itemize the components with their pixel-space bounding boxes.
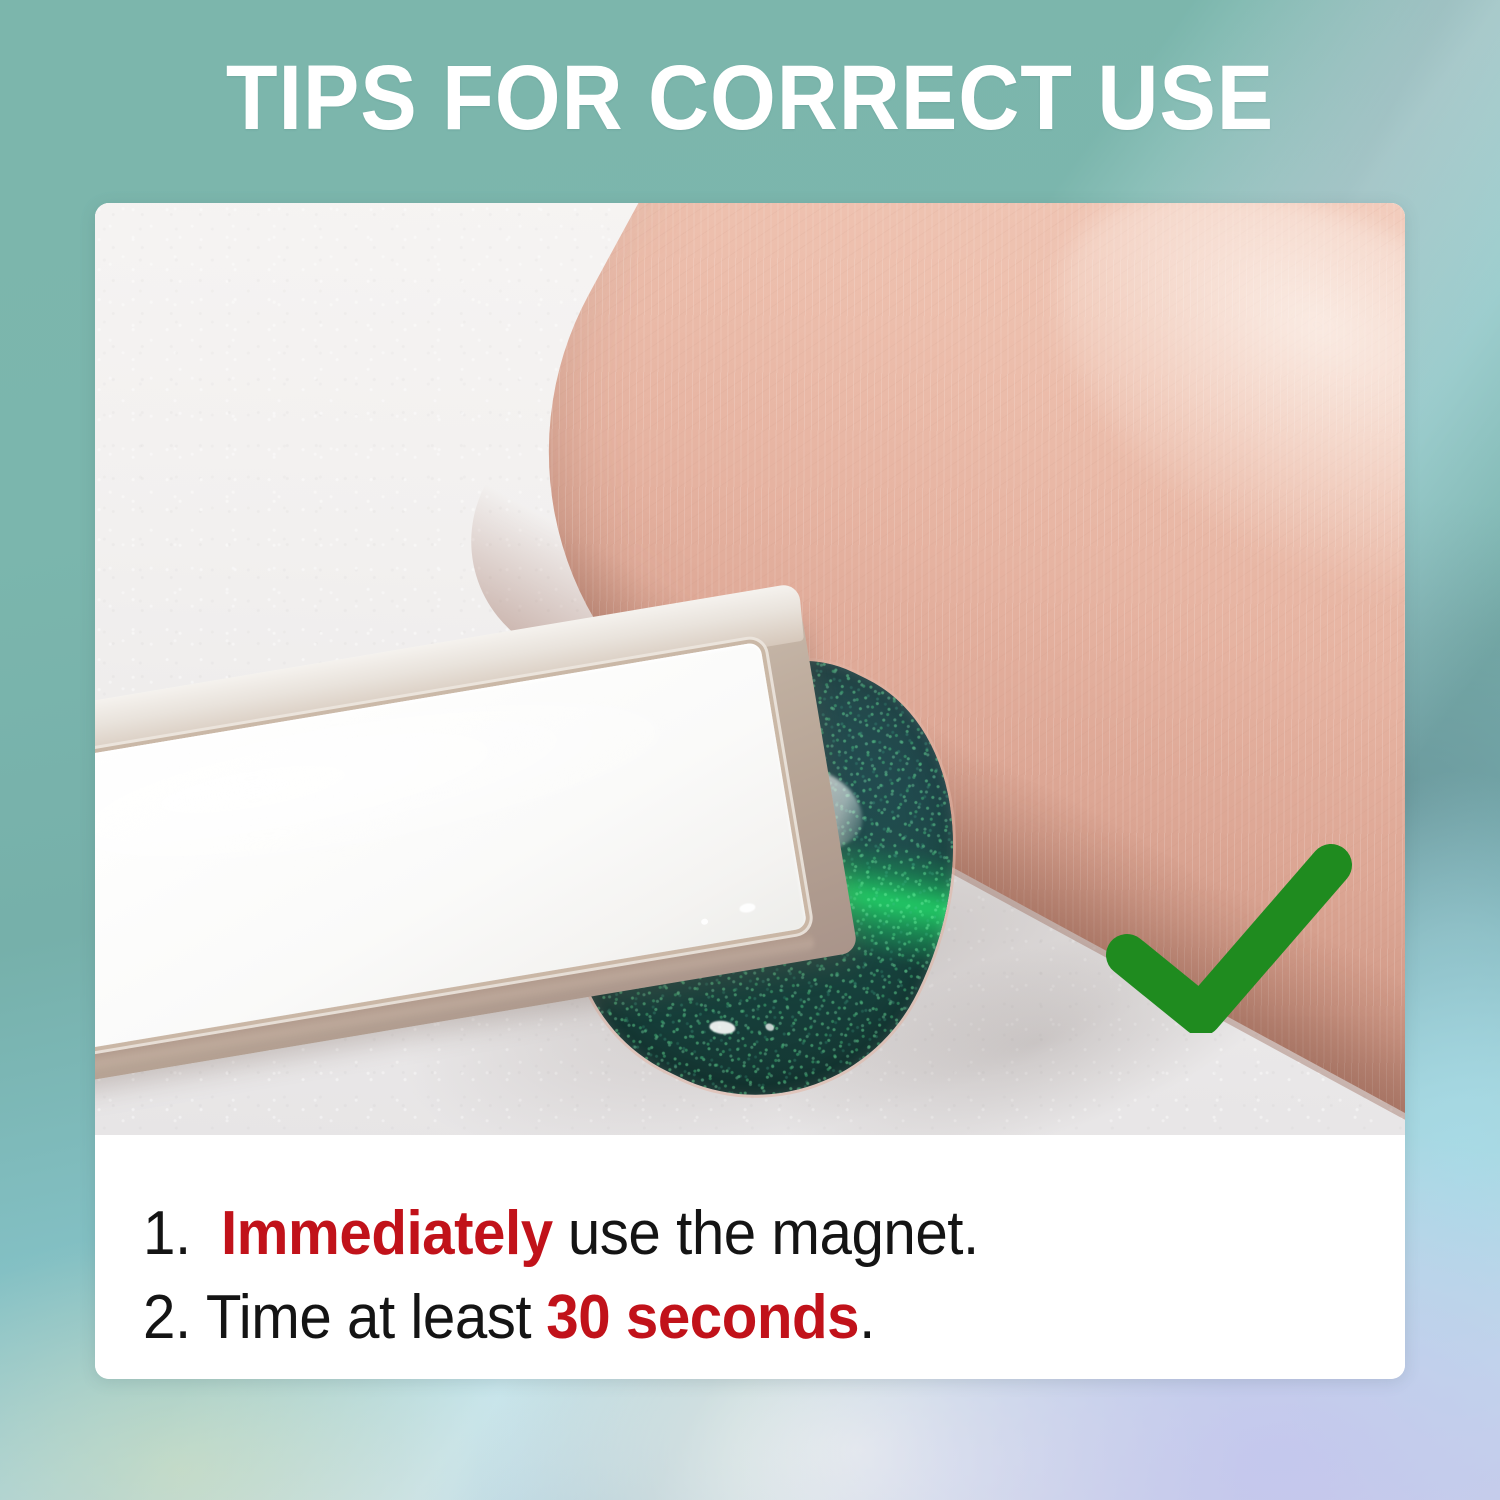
nail-specular-dot-small <box>764 1022 775 1032</box>
caption-rest-1: use the magnet. <box>568 1199 979 1268</box>
instruction-photo <box>95 203 1405 1135</box>
nail-shade <box>515 601 1031 1135</box>
magnet-tool-icon <box>95 609 858 1086</box>
nail-edge-rim <box>515 601 1031 1135</box>
magnet-top-bevel <box>95 583 804 775</box>
caption-line-1: 1.Immediatelyuse the magnet. <box>143 1203 979 1265</box>
caption-emphasis-immediately: Immediately <box>221 1199 553 1268</box>
caption-tail-2: . <box>859 1283 875 1352</box>
caption-number-2: 2. <box>143 1283 191 1352</box>
caption-number-1: 1. <box>143 1199 191 1268</box>
magnet-face <box>95 642 808 1050</box>
magnet-body <box>95 609 858 1086</box>
finger-underside-shadow <box>429 484 1405 1135</box>
glitter-particles <box>515 601 1031 1135</box>
magnet-face-gloss <box>95 673 679 890</box>
poster-root: TIPS FOR CORRECT USE <box>0 0 1500 1500</box>
caption-panel: 1.Immediatelyuse the magnet. 2.Time at l… <box>95 1135 1405 1379</box>
cat-eye-shimmer-band <box>541 788 1008 979</box>
magnet-specular-dot <box>739 902 756 914</box>
magnet-bottom-shadow <box>95 929 816 1078</box>
nail-gloss-highlight <box>716 759 866 857</box>
caption-lead-2: Time at least <box>206 1283 531 1352</box>
green-checkmark-icon <box>1105 843 1355 1033</box>
caption-line-2: 2.Time at least30 seconds. <box>143 1287 875 1349</box>
page-title: TIPS FOR CORRECT USE <box>60 52 1440 144</box>
magnet-specular-dot-small <box>701 918 709 925</box>
painted-fingernail-icon <box>515 601 1031 1135</box>
content-card: 1.Immediatelyuse the magnet. 2.Time at l… <box>95 203 1405 1379</box>
magnet-handle <box>95 741 134 1103</box>
nail-specular-dot <box>709 1019 736 1035</box>
caption-emphasis-30-seconds: 30 seconds <box>546 1283 859 1352</box>
skin-highlight <box>987 203 1405 705</box>
